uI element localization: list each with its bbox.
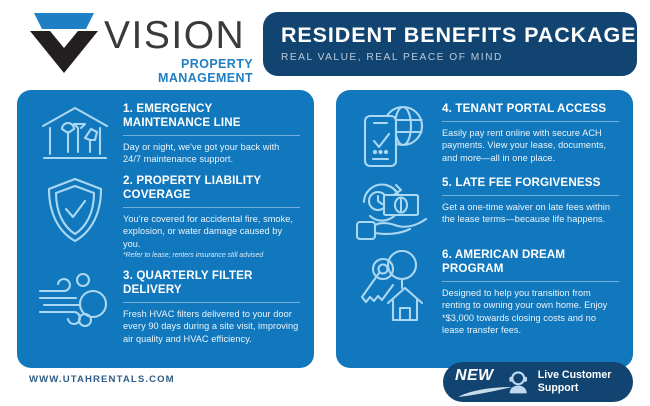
benefit-item: 5. LATE FEE FORGIVENESS Get a one-time w… <box>346 174 621 240</box>
support-label: Live Customer Support <box>538 369 633 394</box>
divider <box>442 281 619 282</box>
vision-logo: VISION PROPERTY MANAGEMENT <box>28 10 253 76</box>
title-banner: RESIDENT BENEFITS PACKAGE REAL VALUE, RE… <box>263 12 637 76</box>
benefit-text: 5. LATE FEE FORGIVENESS Get a one-time w… <box>442 174 621 226</box>
benefit-title: 2. PROPERTY LIABILITY COVERAGE <box>123 174 300 202</box>
new-label: NEW <box>455 367 494 385</box>
benefit-title: 4. TENANT PORTAL ACCESS <box>442 102 619 116</box>
logo-subtitle: PROPERTY MANAGEMENT <box>104 57 253 85</box>
swoosh-icon <box>457 387 513 398</box>
benefit-text: 4. TENANT PORTAL ACCESS Easily pay rent … <box>442 100 621 164</box>
page-title: RESIDENT BENEFITS PACKAGE <box>281 23 637 48</box>
benefit-title: 5. LATE FEE FORGIVENESS <box>442 176 619 190</box>
benefit-text: 6. AMERICAN DREAM PROGRAM Designed to he… <box>442 246 621 337</box>
air-flow-filter-icon <box>27 267 123 329</box>
benefit-item: 2. PROPERTY LIABILITY COVERAGE You're co… <box>27 172 302 261</box>
divider <box>442 121 619 122</box>
divider <box>123 135 300 136</box>
phone-globe-icon <box>346 100 442 168</box>
benefit-body: Get a one-time waiver on late fees withi… <box>442 201 619 226</box>
divider <box>442 195 619 196</box>
infographic-page: VISION PROPERTY MANAGEMENT RESIDENT BENE… <box>0 0 650 406</box>
header: VISION PROPERTY MANAGEMENT RESIDENT BENE… <box>0 0 650 88</box>
benefit-item: 4. TENANT PORTAL ACCESS Easily pay rent … <box>346 100 621 168</box>
benefit-body: Day or night, we've got your back with 2… <box>123 141 300 166</box>
v-triangle-logo-icon <box>28 12 100 74</box>
live-support-badge[interactable]: NEW Live Customer Support <box>443 362 633 402</box>
house-tools-icon <box>27 100 123 164</box>
benefit-text: 3. QUARTERLY FILTER DELIVERY Fresh HVAC … <box>123 267 302 345</box>
benefit-body: You're covered for accidental fire, smok… <box>123 213 300 250</box>
new-flag: NEW <box>455 365 505 399</box>
website-url[interactable]: WWW.UTAHRENTALS.COM <box>29 374 175 385</box>
benefit-footnote: *Refer to lease; renters insurance still… <box>123 251 300 261</box>
divider <box>123 207 300 208</box>
shield-check-icon <box>27 172 123 244</box>
benefit-title: 3. QUARTERLY FILTER DELIVERY <box>123 269 300 297</box>
benefits-card-right: 4. TENANT PORTAL ACCESS Easily pay rent … <box>336 90 633 368</box>
logo-word: VISION <box>104 16 253 56</box>
benefit-item: 1. EMERGENCY MAINTENANCE LINE Day or nig… <box>27 100 302 166</box>
keys-house-icon <box>346 246 442 322</box>
benefit-body: Easily pay rent online with secure ACH p… <box>442 127 619 164</box>
benefit-item: 3. QUARTERLY FILTER DELIVERY Fresh HVAC … <box>27 267 302 345</box>
clock-money-hand-icon <box>346 174 442 240</box>
benefit-title: 6. AMERICAN DREAM PROGRAM <box>442 248 619 276</box>
benefits-card-left: 1. EMERGENCY MAINTENANCE LINE Day or nig… <box>17 90 314 368</box>
page-subtitle: REAL VALUE, REAL PEACE OF MIND <box>281 51 637 65</box>
benefit-title: 1. EMERGENCY MAINTENANCE LINE <box>123 102 300 130</box>
benefit-text: 1. EMERGENCY MAINTENANCE LINE Day or nig… <box>123 100 302 166</box>
divider <box>123 302 300 303</box>
benefit-body: Designed to help you transition from ren… <box>442 287 619 337</box>
benefit-item: 6. AMERICAN DREAM PROGRAM Designed to he… <box>346 246 621 337</box>
benefit-text: 2. PROPERTY LIABILITY COVERAGE You're co… <box>123 172 302 261</box>
benefit-body: Fresh HVAC filters delivered to your doo… <box>123 308 300 345</box>
logo-wordmark: VISION PROPERTY MANAGEMENT <box>104 16 253 85</box>
